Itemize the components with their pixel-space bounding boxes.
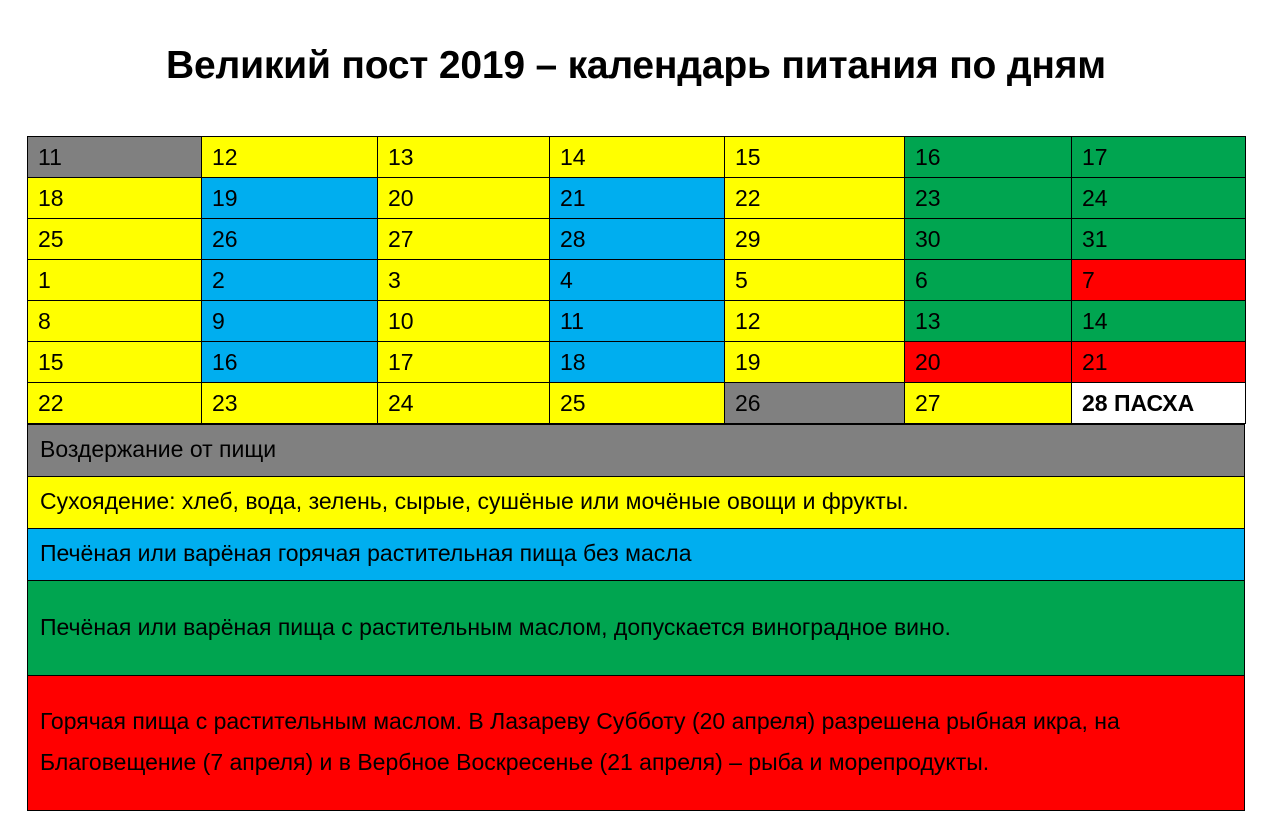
calendar-day-cell[interactable]: 29 [725, 219, 905, 260]
calendar-week-row: 25262728293031 [28, 219, 1246, 260]
calendar-day-cell[interactable]: 22 [725, 178, 905, 219]
calendar-day-cell[interactable]: 18 [550, 342, 725, 383]
calendar-day-cell[interactable]: 22 [28, 383, 202, 424]
legend-description: Сухоядение: хлеб, вода, зелень, сырые, с… [28, 477, 1245, 529]
legend-description: Печёная или варёная пища с растительным … [28, 581, 1245, 676]
calendar-day-cell[interactable]: 14 [550, 137, 725, 178]
calendar-day-cell[interactable]: 16 [905, 137, 1072, 178]
calendar-day-cell[interactable]: 3 [378, 260, 550, 301]
calendar-day-cell[interactable]: 12 [725, 301, 905, 342]
calendar-week-row: 18192021222324 [28, 178, 1246, 219]
calendar-day-cell[interactable]: 4 [550, 260, 725, 301]
calendar-day-cell[interactable]: 26 [725, 383, 905, 424]
calendar-day-cell[interactable]: 28 ПАСХА [1072, 383, 1246, 424]
calendar-day-cell[interactable]: 15 [725, 137, 905, 178]
calendar-day-cell[interactable]: 30 [905, 219, 1072, 260]
calendar-day-cell[interactable]: 27 [905, 383, 1072, 424]
calendar-day-cell[interactable]: 11 [28, 137, 202, 178]
calendar-week-row: 11121314151617 [28, 137, 1246, 178]
calendar-day-cell[interactable]: 17 [1072, 137, 1246, 178]
calendar-day-cell[interactable]: 17 [378, 342, 550, 383]
calendar-day-cell[interactable]: 26 [202, 219, 378, 260]
legend-description: Печёная или варёная горячая растительная… [28, 529, 1245, 581]
calendar-body: 1112131415161718192021222324252627282930… [28, 137, 1246, 424]
legend-row: Печёная или варёная пища с растительным … [28, 581, 1245, 676]
calendar-day-cell[interactable]: 27 [378, 219, 550, 260]
calendar-day-cell[interactable]: 13 [378, 137, 550, 178]
calendar-day-cell[interactable]: 6 [905, 260, 1072, 301]
calendar-day-cell[interactable]: 14 [1072, 301, 1246, 342]
calendar-day-cell[interactable]: 2 [202, 260, 378, 301]
legend-row: Сухоядение: хлеб, вода, зелень, сырые, с… [28, 477, 1245, 529]
calendar-day-cell[interactable]: 28 [550, 219, 725, 260]
legend-body: Воздержание от пищиСухоядение: хлеб, вод… [28, 425, 1245, 811]
calendar-day-cell[interactable]: 11 [550, 301, 725, 342]
legend-row: Печёная или варёная горячая растительная… [28, 529, 1245, 581]
calendar-day-cell[interactable]: 7 [1072, 260, 1246, 301]
calendar-day-cell[interactable]: 21 [1072, 342, 1246, 383]
calendar-day-cell[interactable]: 8 [28, 301, 202, 342]
calendar-day-cell[interactable]: 24 [378, 383, 550, 424]
calendar-day-cell[interactable]: 24 [1072, 178, 1246, 219]
calendar-day-cell[interactable]: 21 [550, 178, 725, 219]
calendar-day-cell[interactable]: 13 [905, 301, 1072, 342]
page-title: Великий пост 2019 – календарь питания по… [0, 44, 1272, 88]
calendar-day-cell[interactable]: 20 [378, 178, 550, 219]
calendar-day-cell[interactable]: 16 [202, 342, 378, 383]
legend-description: Воздержание от пищи [28, 425, 1245, 477]
legend-row: Горячая пища с растительным маслом. В Ла… [28, 676, 1245, 811]
calendar-week-row: 1234567 [28, 260, 1246, 301]
legend-row: Воздержание от пищи [28, 425, 1245, 477]
calendar-week-row: 15161718192021 [28, 342, 1246, 383]
fasting-calendar-table: 1112131415161718192021222324252627282930… [27, 136, 1246, 424]
calendar-day-cell[interactable]: 19 [725, 342, 905, 383]
calendar-day-cell[interactable]: 20 [905, 342, 1072, 383]
calendar-day-cell[interactable]: 23 [202, 383, 378, 424]
calendar-day-cell[interactable]: 1 [28, 260, 202, 301]
calendar-day-cell[interactable]: 25 [28, 219, 202, 260]
calendar-week-row: 22232425262728 ПАСХА [28, 383, 1246, 424]
calendar-day-cell[interactable]: 15 [28, 342, 202, 383]
calendar-day-cell[interactable]: 18 [28, 178, 202, 219]
calendar-day-cell[interactable]: 12 [202, 137, 378, 178]
calendar-day-cell[interactable]: 10 [378, 301, 550, 342]
calendar-day-cell[interactable]: 19 [202, 178, 378, 219]
calendar-day-cell[interactable]: 25 [550, 383, 725, 424]
calendar-day-cell[interactable]: 31 [1072, 219, 1246, 260]
calendar-day-cell[interactable]: 5 [725, 260, 905, 301]
legend-table: Воздержание от пищиСухоядение: хлеб, вод… [27, 424, 1245, 811]
calendar-day-cell[interactable]: 9 [202, 301, 378, 342]
calendar-container: 1112131415161718192021222324252627282930… [27, 136, 1245, 811]
calendar-day-cell[interactable]: 23 [905, 178, 1072, 219]
calendar-week-row: 891011121314 [28, 301, 1246, 342]
legend-description: Горячая пища с растительным маслом. В Ла… [28, 676, 1245, 811]
